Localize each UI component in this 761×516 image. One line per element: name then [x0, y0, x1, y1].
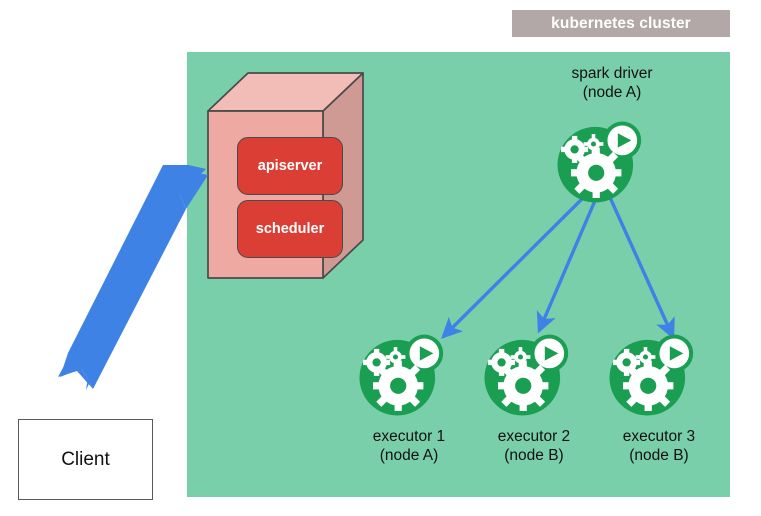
spark-driver-node[interactable]	[553, 117, 643, 207]
executor-1-label: executor 1(node A)	[347, 427, 471, 465]
diagram-canvas: kubernetes cluster apiserver scheduler	[0, 0, 761, 516]
spark-node-gears-play-icon	[553, 117, 643, 207]
spark-node-gears-play-icon	[605, 330, 695, 420]
executor-1-label-line2: (node A)	[380, 447, 439, 464]
executor-3-label-line1: executor 3	[623, 428, 695, 445]
spark-driver-label: spark driver(node A)	[532, 64, 692, 102]
service-box-scheduler[interactable]: scheduler	[237, 200, 343, 258]
executor-3-label: executor 3(node B)	[597, 427, 721, 465]
kubernetes-master-cube: apiserver scheduler	[205, 65, 365, 280]
client-label: Client	[61, 449, 110, 471]
kubernetes-cluster-label: kubernetes cluster	[512, 10, 730, 37]
executor-3-label-line2: (node B)	[629, 447, 688, 464]
executor-3-node[interactable]	[605, 330, 695, 420]
service-box-apiserver[interactable]: apiserver	[237, 137, 343, 195]
client-box[interactable]: Client	[18, 419, 153, 500]
executor-2-label-line1: executor 2	[498, 428, 570, 445]
spark-node-gears-play-icon	[355, 330, 445, 420]
executor-2-label-line2: (node B)	[504, 447, 563, 464]
executor-1-label-line1: executor 1	[373, 428, 445, 445]
spark-node-gears-play-icon	[480, 330, 570, 420]
executor-1-node[interactable]	[355, 330, 445, 420]
executor-2-label: executor 2(node B)	[472, 427, 596, 465]
executor-2-node[interactable]	[480, 330, 570, 420]
spark-driver-label-line1: spark driver	[572, 65, 653, 82]
spark-driver-label-line2: (node A)	[583, 84, 642, 101]
